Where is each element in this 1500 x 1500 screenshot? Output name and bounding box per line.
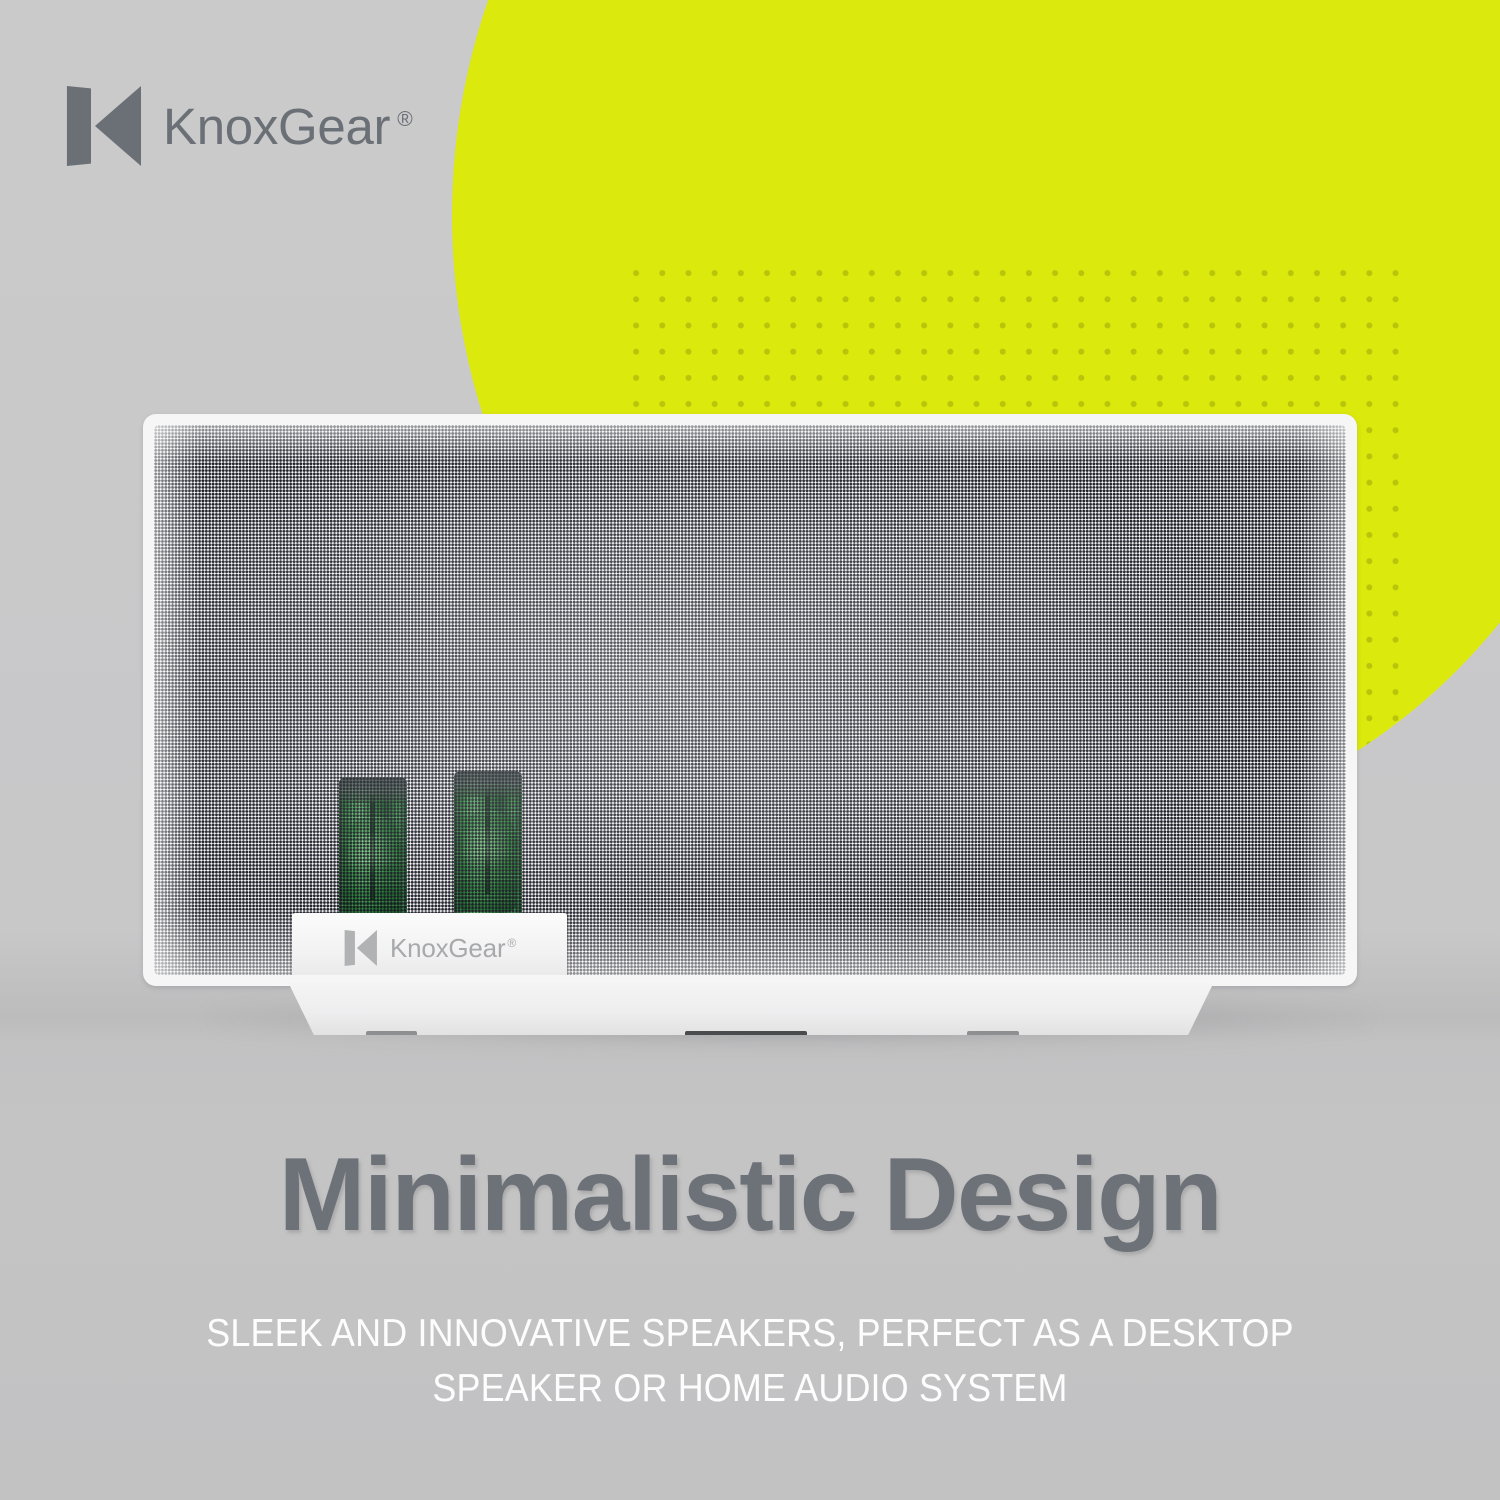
speaker-body: KnoxGear® — [143, 414, 1357, 986]
badge-logo-bar-icon — [343, 930, 355, 966]
knoxgear-mark-icon — [63, 86, 141, 166]
trademark-symbol: ® — [397, 108, 412, 131]
subheadline-line-2: SPEAKER OR HOME AUDIO SYSTEM — [60, 1361, 1440, 1416]
product-marketing-banner: KnoxGear® — [0, 0, 1500, 1500]
headline: Minimalistic Design — [0, 1143, 1500, 1247]
logo-triangle-icon — [95, 86, 141, 166]
speaker-grille: KnoxGear® — [154, 425, 1346, 975]
brand-name: KnoxGear® — [163, 101, 412, 152]
brand-logo: KnoxGear® — [63, 86, 412, 166]
subheadline: SLEEK AND INNOVATIVE SPEAKERS, PERFECT A… — [60, 1306, 1440, 1417]
speaker-base — [281, 983, 1221, 1035]
logo-bar-icon — [63, 86, 91, 166]
badge-logo-triangle-icon — [357, 930, 377, 966]
subheadline-line-1: SLEEK AND INNOVATIVE SPEAKERS, PERFECT A… — [60, 1306, 1440, 1361]
badge-brand-name: KnoxGear® — [390, 935, 516, 961]
badge-knoxgear-mark-icon — [343, 930, 377, 966]
grille-lighting-overlay — [154, 425, 1346, 975]
speaker-badge: KnoxGear® — [292, 913, 567, 975]
badge-trademark-symbol: ® — [507, 936, 516, 950]
